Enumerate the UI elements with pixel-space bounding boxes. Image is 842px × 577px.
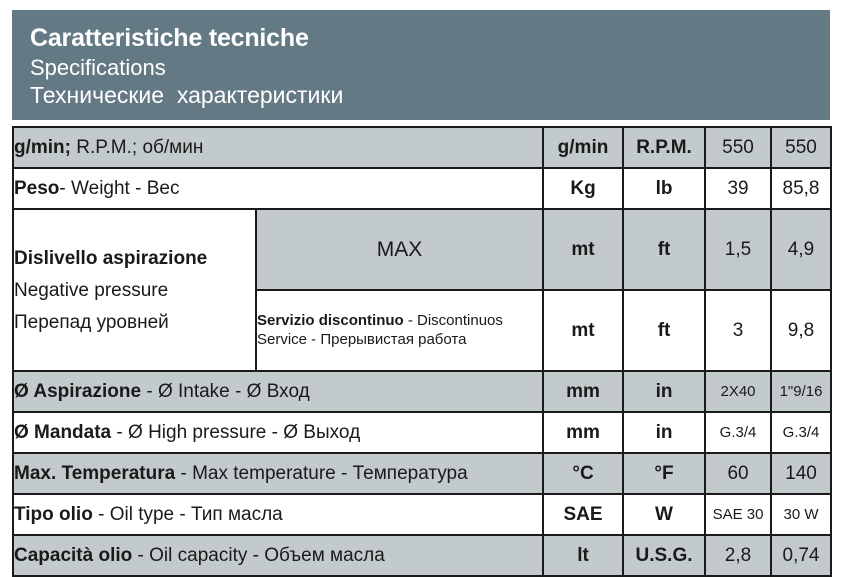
row-label-russian: Перепад уровней — [14, 313, 255, 332]
row-label-russian: Ø Выход — [283, 422, 360, 443]
row-label: Max. Temperatura - Max temperature - Тем… — [13, 453, 543, 494]
row-value-metric: 60 — [705, 453, 771, 494]
row-label-italian: g/min; — [14, 137, 71, 158]
sub-label-service: Servizio discontinuo - Discontinuos Serv… — [256, 290, 543, 371]
sub-label-service-line2: Service - Прерывистая работа — [257, 331, 542, 350]
row-unit-imperial: lb — [623, 168, 705, 209]
row-value-metric: 550 — [705, 127, 771, 168]
row-label-dislivello: Dislivello aspirazione Negative pressure… — [13, 209, 256, 371]
row-label-italian: Tipo olio — [14, 504, 93, 525]
row-unit-metric: °C — [543, 453, 623, 494]
table-row: Peso- Weight - Вес Kg lb 39 85,8 — [13, 168, 831, 209]
row-label-italian: Max. Temperatura — [14, 463, 175, 484]
row-value-imperial: 30 W — [771, 494, 831, 535]
row-label-italian: Ø Mandata — [14, 422, 111, 443]
specifications-table: g/min; R.P.M.; об/мин g/min R.P.M. 550 5… — [12, 126, 832, 577]
row-unit-metric: mt — [543, 290, 623, 371]
row-label-russian: Ø Вход — [247, 381, 310, 402]
row-label-russian: Вес — [147, 178, 180, 199]
row-unit-metric: SAE — [543, 494, 623, 535]
table-row: Ø Mandata - Ø High pressure - Ø Выход mm… — [13, 412, 831, 453]
row-unit-imperial: ft — [623, 209, 705, 290]
row-value-metric: 3 — [705, 290, 771, 371]
row-label: Tipo olio - Oil type - Тип масла — [13, 494, 543, 535]
row-label: Ø Mandata - Ø High pressure - Ø Выход — [13, 412, 543, 453]
row-label: Peso- Weight - Вес — [13, 168, 543, 209]
row-value-imperial: 85,8 — [771, 168, 831, 209]
row-label-russian: об/мин — [142, 137, 203, 158]
row-unit-imperial: ft — [623, 290, 705, 371]
table-row: Max. Temperatura - Max temperature - Тем… — [13, 453, 831, 494]
row-value-imperial: 550 — [771, 127, 831, 168]
row-unit-imperial: °F — [623, 453, 705, 494]
header-title-russian: Технические характеристики — [30, 84, 830, 107]
row-value-imperial: 140 — [771, 453, 831, 494]
row-label-italian: Peso — [14, 178, 59, 199]
row-label: Ø Aspirazione - Ø Intake - Ø Вход — [13, 371, 543, 412]
row-value-metric: SAE 30 — [705, 494, 771, 535]
row-label-italian: Capacità olio — [14, 545, 132, 566]
row-value-imperial: 9,8 — [771, 290, 831, 371]
row-value-imperial: 4,9 — [771, 209, 831, 290]
row-value-metric: 2X40 — [705, 371, 771, 412]
row-unit-imperial: W — [623, 494, 705, 535]
row-label-english: Weight — [71, 178, 130, 199]
row-unit-metric: lt — [543, 535, 623, 576]
row-unit-metric: mm — [543, 371, 623, 412]
row-unit-imperial: in — [623, 412, 705, 453]
sub-label-max: MAX — [256, 209, 543, 290]
table-row: Tipo olio - Oil type - Тип масла SAE W S… — [13, 494, 831, 535]
table-row: Dislivello aspirazione Negative pressure… — [13, 209, 831, 290]
row-value-imperial: 0,74 — [771, 535, 831, 576]
row-unit-metric: mt — [543, 209, 623, 290]
header-title-italian: Caratteristiche tecniche — [30, 26, 830, 51]
row-label-english: Ø Intake — [158, 381, 230, 402]
row-label-english: Oil capacity — [149, 545, 247, 566]
table-row: Capacità olio - Oil capacity - Объем мас… — [13, 535, 831, 576]
sub-label-service-line1: Servizio discontinuo - Discontinuos — [257, 312, 542, 331]
row-label-italian: Dislivello aspirazione — [14, 249, 255, 268]
row-unit-imperial: in — [623, 371, 705, 412]
row-label-english: Max temperature — [192, 463, 336, 484]
row-label: g/min; R.P.M.; об/мин — [13, 127, 543, 168]
row-label-italian: Ø Aspirazione — [14, 381, 141, 402]
row-label-russian: Температура — [353, 463, 468, 484]
row-label-english: Ø High pressure — [128, 422, 266, 443]
row-label-english: R.P.M.; — [76, 137, 137, 158]
row-label-russian: Тип масла — [191, 504, 283, 525]
row-label-russian: Объем масла — [264, 545, 385, 566]
row-value-metric: G.3/4 — [705, 412, 771, 453]
row-label-english: Oil type — [110, 504, 174, 525]
header-title-english: Specifications — [30, 57, 830, 79]
row-value-metric: 39 — [705, 168, 771, 209]
row-value-metric: 2,8 — [705, 535, 771, 576]
row-value-metric: 1,5 — [705, 209, 771, 290]
specifications-sheet: Caratteristiche tecniche Specifications … — [0, 0, 842, 562]
row-unit-metric: g/min — [543, 127, 623, 168]
row-unit-metric: Kg — [543, 168, 623, 209]
table-row: Ø Aspirazione - Ø Intake - Ø Вход mm in … — [13, 371, 831, 412]
row-label-english: Negative pressure — [14, 281, 255, 300]
table-row: g/min; R.P.M.; об/мин g/min R.P.M. 550 5… — [13, 127, 831, 168]
row-unit-imperial: U.S.G. — [623, 535, 705, 576]
specifications-header-banner: Caratteristiche tecniche Specifications … — [12, 10, 830, 120]
row-label: Capacità olio - Oil capacity - Объем мас… — [13, 535, 543, 576]
row-value-imperial: G.3/4 — [771, 412, 831, 453]
row-unit-imperial: R.P.M. — [623, 127, 705, 168]
row-unit-metric: mm — [543, 412, 623, 453]
row-value-imperial: 1"9/16 — [771, 371, 831, 412]
